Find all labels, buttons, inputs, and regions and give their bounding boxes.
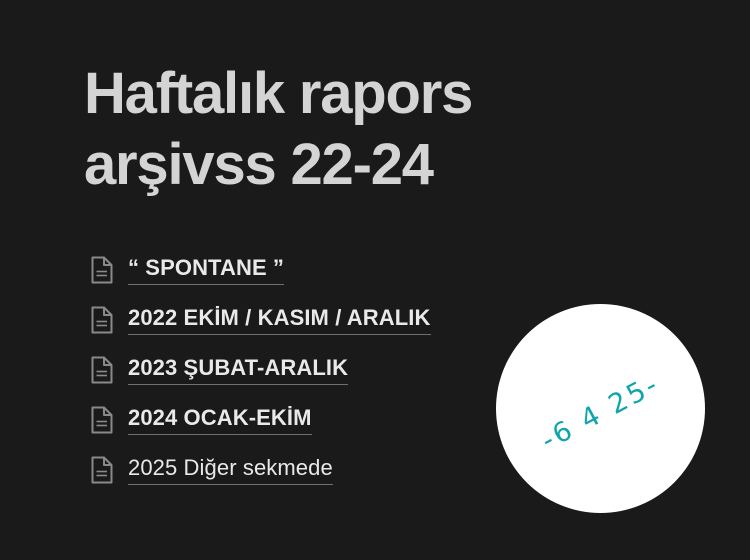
page-title: Haftalık rapors arşivss 22-24 — [84, 58, 554, 200]
list-item-label: 2024 OCAK-EKİM — [128, 406, 312, 435]
slide-canvas: Haftalık rapors arşivss 22-24 “ SPONTANE… — [0, 0, 750, 560]
list-item[interactable]: 2023 ŞUBAT-ARALIK — [90, 345, 510, 395]
list-item[interactable]: “ SPONTANE ” — [90, 245, 510, 295]
list-item[interactable]: 2022 EKİM / KASIM / ARALIK — [90, 295, 510, 345]
document-icon — [90, 256, 114, 284]
list-item-label: 2023 ŞUBAT-ARALIK — [128, 356, 348, 385]
circle-stamp: -6 4 25- — [496, 304, 705, 513]
document-icon — [90, 406, 114, 434]
document-list: “ SPONTANE ” 2022 EKİM / KASIM / ARALIK — [90, 245, 510, 495]
document-icon — [90, 456, 114, 484]
list-item-label: 2022 EKİM / KASIM / ARALIK — [128, 306, 431, 335]
list-item-label: 2025 Diğer sekmede — [128, 456, 333, 485]
document-icon — [90, 306, 114, 334]
page-title-line-1: Haftalık rapors — [84, 58, 554, 129]
page-title-line-2: arşivss 22-24 — [84, 129, 554, 200]
stamp-text: -6 4 25- — [536, 368, 665, 456]
list-item[interactable]: 2025 Diğer sekmede — [90, 445, 510, 495]
list-item-label: “ SPONTANE ” — [128, 256, 284, 285]
list-item[interactable]: 2024 OCAK-EKİM — [90, 395, 510, 445]
document-icon — [90, 356, 114, 384]
